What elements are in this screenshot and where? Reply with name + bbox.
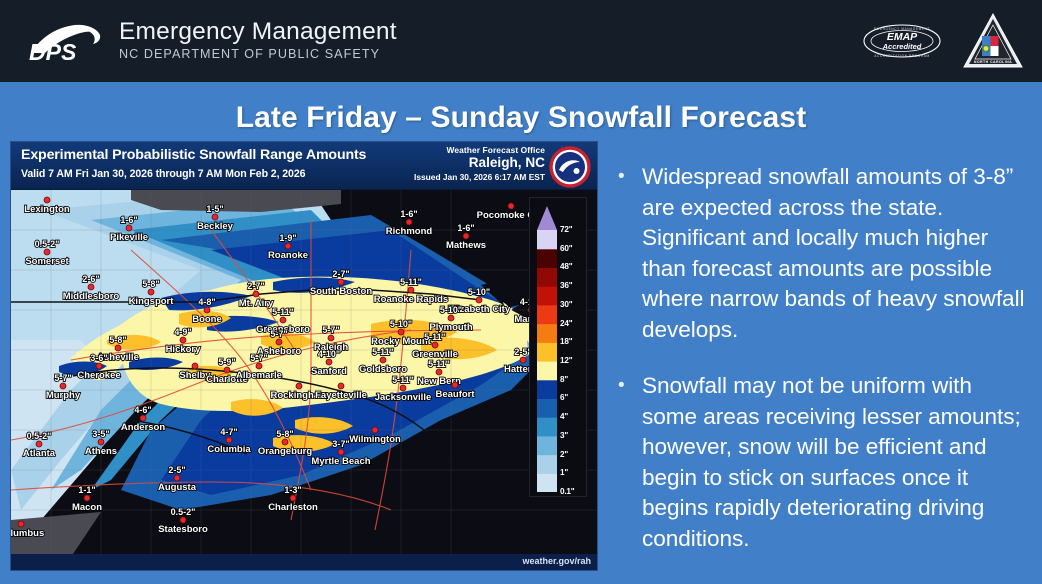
wfo-label: Weather Forecast Office bbox=[414, 145, 545, 155]
city-marker-icon bbox=[88, 284, 94, 290]
snowfall-amount-label: 5-11" bbox=[424, 332, 446, 342]
city-label: Rocky Mount bbox=[371, 336, 431, 347]
city-marker-icon bbox=[115, 345, 121, 351]
snowfall-amount-label: 5-7" bbox=[54, 373, 71, 383]
city-marker-icon bbox=[84, 495, 90, 501]
legend-tick: 4" bbox=[560, 412, 568, 421]
snowfall-amount-label: 1-1" bbox=[78, 485, 95, 495]
snowfall-amount-label: 5-10" bbox=[468, 287, 490, 297]
snowfall-amount-label: 5-7" bbox=[250, 353, 267, 363]
city-marker-icon bbox=[18, 521, 24, 527]
city-label: Roanoke bbox=[268, 250, 308, 261]
snowfall-amount-label: 3-5" bbox=[92, 429, 109, 439]
city-marker-icon bbox=[380, 357, 386, 363]
slide-body: Late Friday – Sunday Snowfall Forecast E… bbox=[0, 82, 1042, 584]
snowfall-forecast-map[interactable]: Experimental Probabilistic Snowfall Rang… bbox=[10, 141, 598, 571]
map-issued-time: Issued Jan 30, 2026 6:17 AM EST bbox=[414, 172, 545, 182]
city-marker-icon bbox=[44, 249, 50, 255]
city-marker-icon bbox=[36, 441, 42, 447]
snowfall-amount-label: 3-7" bbox=[332, 439, 349, 449]
map-footer: weather.gov/rah bbox=[11, 554, 598, 570]
city-marker-icon bbox=[174, 475, 180, 481]
city-marker-icon bbox=[463, 233, 469, 239]
legend-tick: 3" bbox=[560, 431, 568, 440]
city-marker-icon bbox=[276, 339, 282, 345]
city-marker-icon bbox=[290, 495, 296, 501]
city-marker-icon bbox=[408, 287, 414, 293]
snowfall-amount-label: 5-8" bbox=[276, 429, 293, 439]
legend-tick: 1" bbox=[560, 468, 568, 477]
city-marker-icon bbox=[282, 439, 288, 445]
city-label: Macon bbox=[72, 502, 102, 513]
org-subtitle: NC DEPARTMENT OF PUBLIC SAFETY bbox=[119, 47, 397, 63]
snowfall-amount-label: 5-8" bbox=[142, 279, 159, 289]
city-label: Statesboro bbox=[158, 524, 208, 535]
dps-logo: DPS Emergency Management NC DEPARTMENT O… bbox=[27, 19, 397, 63]
city-label: Pikeville bbox=[110, 232, 148, 243]
org-title: Emergency Management bbox=[119, 19, 397, 45]
wfo-office: Raleigh, NC bbox=[414, 155, 545, 170]
snowfall-amount-label: 5-8" bbox=[109, 335, 126, 345]
city-marker-icon bbox=[280, 317, 286, 323]
legend-tick: 60" bbox=[560, 244, 572, 253]
snowfall-amount-label: 0.5-2" bbox=[35, 239, 60, 249]
city-marker-icon bbox=[180, 517, 186, 523]
map-header: Experimental Probabilistic Snowfall Rang… bbox=[11, 142, 597, 190]
snowfall-legend: 0.1"1"2"3"4"6"8"12"18"24"30"36"48"60"72" bbox=[529, 197, 587, 497]
snowfall-amount-label: 5-7" bbox=[322, 325, 339, 335]
snowfall-amount-label: 5-10" bbox=[390, 319, 412, 329]
snowfall-amount-label: 4-6" bbox=[134, 405, 151, 415]
agency-header-bar: DPS Emergency Management NC DEPARTMENT O… bbox=[0, 0, 1042, 82]
snowfall-amount-label: 2-5" bbox=[168, 465, 185, 475]
noaa-nws-seal-icon bbox=[549, 146, 591, 188]
city-marker-icon bbox=[226, 437, 232, 443]
snowfall-amount-label: 5-11" bbox=[428, 359, 450, 369]
legend-tick-labels: 0.1"1"2"3"4"6"8"12"18"24"30"36"48"60"72" bbox=[560, 198, 588, 498]
legend-color-bar bbox=[537, 204, 557, 492]
bullet-marker-icon: • bbox=[612, 371, 642, 554]
map-canvas: LexingtonBeckley1-5"Pikeville1-6"Somerse… bbox=[11, 190, 598, 557]
legend-tick: 30" bbox=[560, 300, 572, 309]
snowfall-amount-label: 1-6" bbox=[457, 223, 474, 233]
legend-tick: 2" bbox=[560, 450, 568, 459]
city-marker-icon bbox=[256, 363, 262, 369]
city-label: Augusta bbox=[158, 482, 197, 493]
snowfall-amount-label: 4-8" bbox=[198, 297, 215, 307]
city-label: Wilmington bbox=[349, 434, 401, 445]
city-label: Orangeburg bbox=[258, 446, 313, 457]
city-marker-icon bbox=[148, 289, 154, 295]
city-label: Murphy bbox=[46, 390, 81, 401]
weather-forecast-office-block: Weather Forecast Office Raleigh, NC Issu… bbox=[414, 145, 545, 182]
legend-tick: 6" bbox=[560, 393, 568, 402]
city-marker-icon bbox=[204, 307, 210, 313]
city-marker-icon bbox=[212, 214, 218, 220]
city-marker-icon bbox=[180, 337, 186, 343]
city-label: Lexington bbox=[24, 204, 70, 215]
snowfall-amount-label: 3-6" bbox=[90, 353, 107, 363]
city-label: Goldsboro bbox=[359, 364, 407, 375]
city-label: Atlanta bbox=[23, 448, 56, 459]
city-marker-icon bbox=[452, 382, 458, 388]
city-label: Albemarle bbox=[236, 370, 282, 381]
legend-tick: 18" bbox=[560, 337, 572, 346]
city-marker-icon bbox=[338, 383, 344, 389]
city-label: Beckley bbox=[197, 221, 234, 232]
snowfall-amount-label: 2-7" bbox=[332, 269, 349, 279]
legend-tick: 24" bbox=[560, 319, 572, 328]
city-marker-icon bbox=[398, 329, 404, 335]
snowfall-amount-label: 1-5" bbox=[206, 204, 223, 214]
svg-text:NORTH CAROLINA: NORTH CAROLINA bbox=[974, 60, 1012, 64]
snowfall-amount-label: 5-7" bbox=[270, 329, 287, 339]
city-label: Columbus bbox=[11, 528, 44, 539]
city-marker-icon bbox=[44, 197, 50, 203]
city-label: Anderson bbox=[121, 422, 166, 433]
city-marker-icon bbox=[436, 369, 442, 375]
city-label: Middlesboro bbox=[63, 291, 120, 302]
city-label: Somerset bbox=[25, 256, 69, 267]
snowfall-amount-label: 1-3" bbox=[284, 485, 301, 495]
city-marker-icon bbox=[372, 427, 378, 433]
snowfall-amount-label: 5-11" bbox=[372, 347, 394, 357]
page-title: Late Friday – Sunday Snowfall Forecast bbox=[0, 82, 1042, 135]
svg-text:ACCREDITATION PROGRAM: ACCREDITATION PROGRAM bbox=[874, 54, 930, 58]
list-item: • Widespread snowfall amounts of 3-8” ar… bbox=[612, 162, 1032, 345]
legend-tick: 48" bbox=[560, 262, 572, 271]
city-label: Charleston bbox=[268, 502, 318, 513]
city-label: Richmond bbox=[386, 226, 433, 237]
legend-tick: 72" bbox=[560, 225, 572, 234]
snowfall-amount-label: 5-11" bbox=[392, 375, 414, 385]
map-title: Experimental Probabilistic Snowfall Rang… bbox=[21, 147, 366, 163]
city-label: Boone bbox=[192, 314, 222, 325]
snowfall-amount-label: 5-11" bbox=[272, 307, 294, 317]
city-label: Hickory bbox=[166, 344, 202, 355]
city-label: South Boston bbox=[310, 286, 372, 297]
snowfall-amount-label: 4-9" bbox=[174, 327, 191, 337]
city-label: Roanoke Rapids bbox=[374, 294, 448, 305]
city-label: Jacksonville bbox=[375, 392, 432, 403]
legend-tick: 0.1" bbox=[560, 487, 574, 496]
city-marker-icon bbox=[326, 359, 332, 365]
city-label: Cherokee bbox=[77, 370, 120, 381]
legend-tick: 8" bbox=[560, 375, 568, 384]
city-marker-icon bbox=[448, 315, 454, 321]
header-badges: EMAP Accredited EMERGENCY MANAGEMENT ACC… bbox=[862, 0, 1024, 82]
city-marker-icon bbox=[508, 203, 514, 209]
city-marker-icon bbox=[96, 363, 102, 369]
city-marker-icon bbox=[406, 219, 412, 225]
snowfall-amount-label: 1-6" bbox=[120, 215, 137, 225]
city-marker-icon bbox=[338, 449, 344, 455]
city-label: Columbia bbox=[207, 444, 251, 455]
city-label: Sanford bbox=[311, 366, 347, 377]
list-item: • Snowfall may not be uniform with some … bbox=[612, 371, 1032, 554]
snowfall-amount-label: 5-10" bbox=[440, 305, 462, 315]
emap-accredited-logo-icon: EMAP Accredited EMERGENCY MANAGEMENT ACC… bbox=[862, 21, 942, 61]
city-label: Mathews bbox=[446, 240, 486, 251]
legend-tick: 36" bbox=[560, 281, 572, 290]
snowfall-amount-label: 0.5-2" bbox=[27, 431, 52, 441]
bullet-text: Snowfall may not be uniform with some ar… bbox=[642, 371, 1032, 554]
city-label: Myrtle Beach bbox=[311, 456, 370, 467]
svg-text:DPS: DPS bbox=[29, 39, 77, 63]
snowfall-amount-label: 0.5-2" bbox=[171, 507, 196, 517]
snowfall-amount-label: 2-6" bbox=[82, 274, 99, 284]
city-label: Mt. Airy bbox=[239, 298, 274, 309]
snowfall-amount-label: 2-7" bbox=[247, 281, 264, 291]
snowfall-amount-label: 4-10" bbox=[318, 349, 340, 359]
city-marker-icon bbox=[60, 383, 66, 389]
city-marker-icon bbox=[98, 439, 104, 445]
city-marker-icon bbox=[432, 342, 438, 348]
city-marker-icon bbox=[400, 385, 406, 391]
city-label: Beaufort bbox=[435, 389, 475, 400]
city-marker-icon bbox=[192, 363, 198, 369]
city-marker-icon bbox=[285, 243, 291, 249]
nc-emergency-management-seal-icon: NORTH CAROLINA bbox=[962, 12, 1024, 70]
city-marker-icon bbox=[126, 225, 132, 231]
city-marker-icon bbox=[224, 367, 230, 373]
forecast-bullet-list: • Widespread snowfall amounts of 3-8” ar… bbox=[612, 162, 1032, 580]
svg-text:EMERGENCY MANAGEMENT: EMERGENCY MANAGEMENT bbox=[874, 27, 930, 31]
city-label: Fayetteville bbox=[315, 390, 367, 401]
legend-tick: 12" bbox=[560, 356, 572, 365]
city-label: Athens bbox=[85, 446, 117, 457]
city-marker-icon bbox=[296, 383, 302, 389]
map-valid-period: Valid 7 AM Fri Jan 30, 2026 through 7 AM… bbox=[21, 168, 305, 180]
city-marker-icon bbox=[338, 279, 344, 285]
map-source-url: weather.gov/rah bbox=[522, 556, 591, 566]
city-marker-icon bbox=[520, 357, 526, 363]
bullet-marker-icon: • bbox=[612, 162, 642, 345]
snowfall-amount-label: 5-9" bbox=[218, 357, 235, 367]
snowfall-amount-label: 5-11" bbox=[400, 277, 422, 287]
snowfall-amount-label: 4-7" bbox=[220, 427, 237, 437]
city-marker-icon bbox=[140, 415, 146, 421]
city-label: Kingsport bbox=[129, 296, 175, 307]
svg-text:Accredited: Accredited bbox=[882, 42, 922, 51]
dps-mark-icon: DPS bbox=[27, 19, 105, 63]
city-marker-icon bbox=[328, 335, 334, 341]
bullet-text: Widespread snowfall amounts of 3-8” are … bbox=[642, 162, 1032, 345]
snowfall-amount-label: 1-6" bbox=[400, 209, 417, 219]
city-marker-icon bbox=[253, 291, 259, 297]
city-marker-icon bbox=[476, 297, 482, 303]
snowfall-amount-label: 1-9" bbox=[279, 233, 296, 243]
